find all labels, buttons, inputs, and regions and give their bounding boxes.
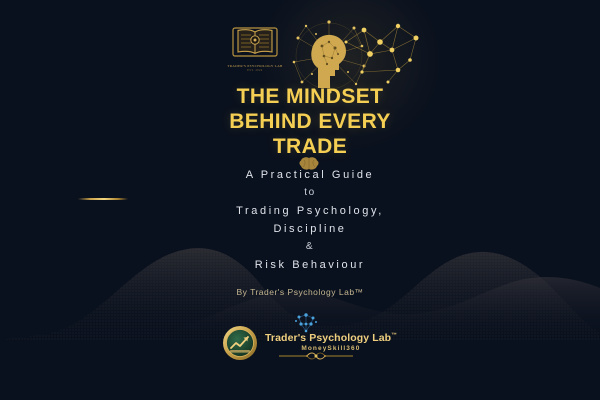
emblem-caption: TRADER'S PSYCHOLOGY LAB bbox=[223, 64, 287, 68]
author-byline: By Trader's Psychology Lab™ bbox=[0, 287, 600, 297]
subtitle-line-1: A Practical Guide bbox=[190, 166, 430, 184]
book-title: THE MINDSET BEHIND EVERY TRADE bbox=[210, 84, 410, 159]
subtitle-line-6: Risk Behaviour bbox=[190, 256, 430, 274]
title-line-2: BEHIND EVERY bbox=[210, 109, 410, 134]
trademark-symbol: ™ bbox=[391, 333, 397, 339]
subtitle-line-5: & bbox=[190, 238, 430, 256]
gold-horizontal-rule bbox=[78, 198, 128, 200]
emblem-sub: EST. 2024 bbox=[223, 69, 287, 72]
book-cover: TRADER'S PSYCHOLOGY LAB EST. 2024 bbox=[0, 0, 600, 400]
brand-name-label: Trader's Psychology Lab bbox=[265, 332, 391, 344]
brand-name: Trader's Psychology Lab™ bbox=[265, 333, 397, 344]
subtitle-line-3: Trading Psychology, bbox=[190, 202, 430, 220]
ornamental-divider-icon bbox=[277, 350, 355, 362]
open-book-icon bbox=[230, 26, 280, 58]
subtitle-line-2: to bbox=[190, 184, 430, 202]
gold-coin-growth-chart-icon bbox=[222, 325, 258, 361]
subtitle-line-4: Discipline bbox=[190, 220, 430, 238]
publisher-emblem: TRADER'S PSYCHOLOGY LAB EST. 2024 bbox=[223, 26, 287, 74]
node-link-network-icon bbox=[340, 12, 426, 86]
book-subtitle: A Practical Guide to Trading Psychology,… bbox=[190, 166, 430, 274]
title-line-1: THE MINDSET bbox=[210, 84, 410, 109]
